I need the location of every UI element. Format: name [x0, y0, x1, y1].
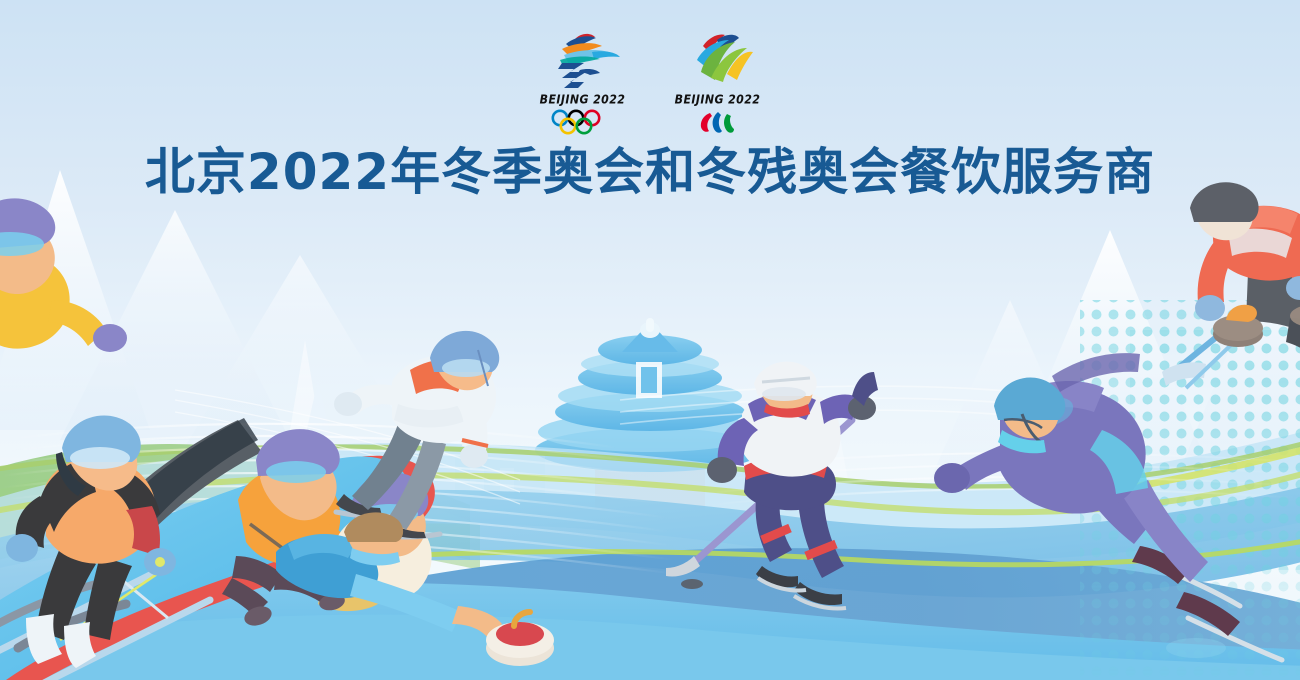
- paralympic-emblem-wordmark: BEIJING 2022: [675, 92, 761, 107]
- agitos-icon: [682, 109, 754, 135]
- olympic-emblem-wordmark: BEIJING 2022: [540, 92, 626, 107]
- olympic-rings-icon: [547, 109, 619, 135]
- beijing-2022-catering-supplier-banner: BEIJING 2022: [0, 0, 1300, 680]
- page-title: 北京2022年冬季奥会和冬残奥会餐饮服务商: [0, 146, 1300, 199]
- foreground-accents: [1166, 638, 1226, 658]
- ice-hockey-player: [666, 362, 878, 609]
- short-track-speed-skater: [334, 331, 499, 539]
- emblem-row: BEIJING 2022: [0, 30, 1300, 135]
- olympic-emblem: BEIJING 2022: [535, 30, 630, 135]
- curler-sweeping: [1162, 182, 1300, 388]
- winter-dream-dancing-figure-icon: [540, 30, 626, 92]
- speed-skater: [934, 353, 1282, 660]
- flying-high-figure-icon: [675, 30, 761, 92]
- bobsleigh-athlete-1: [0, 198, 127, 352]
- paralympic-emblem: BEIJING 2022: [670, 30, 765, 135]
